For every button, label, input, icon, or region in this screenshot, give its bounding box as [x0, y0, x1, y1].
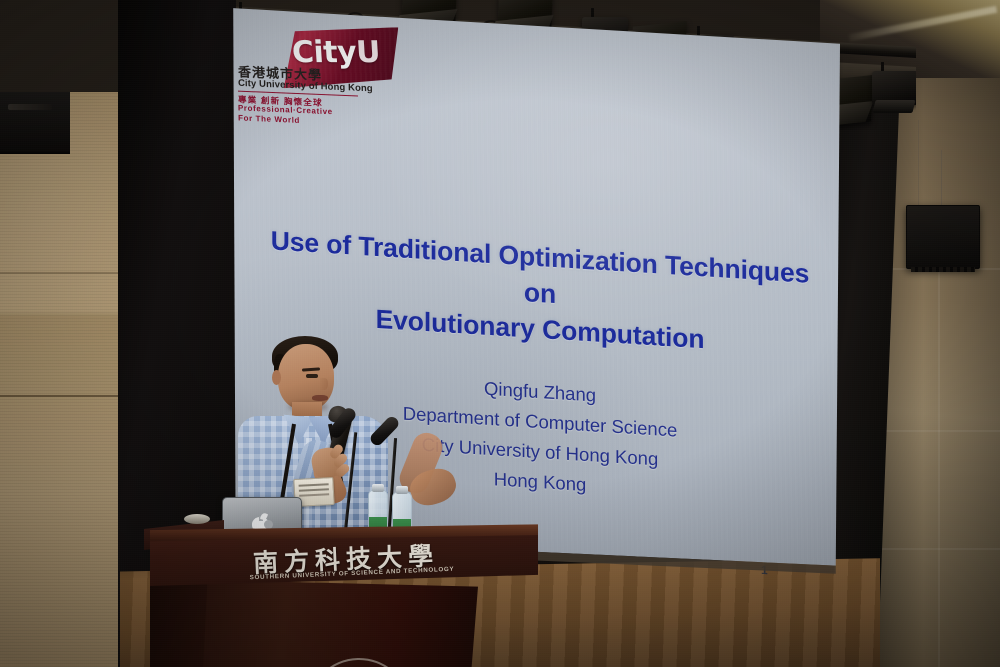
- podium-front-panel: SOUTHERN UNIVERSITY OF SCIENCE AND TECHN…: [202, 580, 478, 667]
- presenter-nose: [320, 378, 328, 390]
- small-dish: [184, 514, 210, 524]
- emblem-ring-text: SOUTHERN UNIVERSITY OF SCIENCE AND TECHN…: [308, 659, 411, 667]
- presenter-eye: [306, 374, 318, 378]
- cityu-logo: CityU 香港城市大學 City University of Hong Kon…: [238, 18, 408, 121]
- photo-scene: CityU 香港城市大學 City University of Hong Kon…: [0, 0, 1000, 667]
- presenter-ear: [272, 370, 281, 385]
- cityu-tagline: Professional·Creative For The World: [238, 103, 333, 126]
- presenter-mouth: [312, 395, 328, 401]
- lectern-podium: SOUTHERN UNIVERSITY OF SCIENCE AND TECHN…: [150, 524, 538, 667]
- sustech-emblem: SOUTHERN UNIVERSITY OF SCIENCE AND TECHN…: [306, 657, 413, 667]
